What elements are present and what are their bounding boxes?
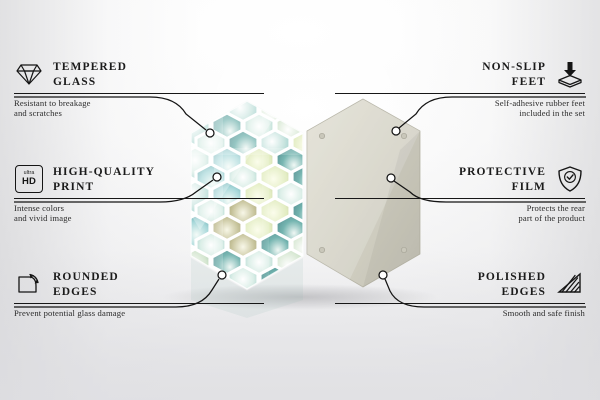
feature-title-line2: PRINT xyxy=(53,180,155,195)
feature-rounded-edges: ROUNDED EDGES Prevent potential glass da… xyxy=(14,268,264,318)
press-down-pad-icon xyxy=(555,59,585,89)
feature-title-line1: TEMPERED xyxy=(53,60,127,75)
hatched-triangle-icon xyxy=(555,269,585,299)
feature-description: Intense colors and vivid image xyxy=(14,203,264,224)
feature-title: ROUNDED EDGES xyxy=(53,268,119,299)
feature-desc-line1: Self-adhesive rubber feet xyxy=(335,98,585,108)
feature-title-line1: NON-SLIP xyxy=(482,60,546,75)
diamond-icon xyxy=(14,59,44,89)
feature-desc-line1: Resistant to breakage xyxy=(14,98,264,108)
feature-title: TEMPERED GLASS xyxy=(53,58,127,89)
feature-divider xyxy=(335,198,585,199)
feature-title-line1: ROUNDED xyxy=(53,270,119,285)
feature-description: Prevent potential glass damage xyxy=(14,308,264,318)
feature-tempered-glass: TEMPERED GLASS Resistant to breakage and… xyxy=(14,58,264,119)
feature-high-quality-print: ultra HD HIGH-QUALITY PRINT Intense colo… xyxy=(14,163,264,224)
feature-desc-line2: and vivid image xyxy=(14,213,264,223)
ultra-hd-badge-icon: ultra HD xyxy=(14,164,44,194)
feature-divider xyxy=(335,303,585,304)
feature-desc-line2: and scratches xyxy=(14,108,264,118)
feature-desc-line2: part of the product xyxy=(335,213,585,223)
feature-divider xyxy=(335,93,585,94)
feature-polished-edges: POLISHED EDGES Smooth and safe finish xyxy=(335,268,585,318)
feature-description: Self-adhesive rubber feet included in th… xyxy=(335,98,585,119)
feature-title: NON-SLIP FEET xyxy=(482,58,546,89)
feature-divider xyxy=(14,303,264,304)
feature-desc-line1: Smooth and safe finish xyxy=(335,308,585,318)
shield-check-icon xyxy=(555,164,585,194)
feature-title-line1: PROTECTIVE xyxy=(459,165,546,180)
feature-title-line1: POLISHED xyxy=(478,270,546,285)
feature-title-line1: HIGH-QUALITY xyxy=(53,165,155,180)
product-infographic: TEMPERED GLASS Resistant to breakage and… xyxy=(0,0,600,400)
feature-desc-line1: Protects the rear xyxy=(335,203,585,213)
feature-title-line2: EDGES xyxy=(53,285,119,300)
feature-title-line2: EDGES xyxy=(478,285,546,300)
feature-title-line2: GLASS xyxy=(53,75,127,90)
feature-title: PROTECTIVE FILM xyxy=(459,163,546,194)
feature-divider xyxy=(14,198,264,199)
feature-non-slip-feet: NON-SLIP FEET Self-adhesive rubber feet … xyxy=(335,58,585,119)
feature-description: Resistant to breakage and scratches xyxy=(14,98,264,119)
ultra-hd-bottom-text: HD xyxy=(22,177,36,187)
feature-title: HIGH-QUALITY PRINT xyxy=(53,163,155,194)
feature-desc-line1: Prevent potential glass damage xyxy=(14,308,264,318)
feature-divider xyxy=(14,93,264,94)
feature-desc-line2: included in the set xyxy=(335,108,585,118)
feature-title: POLISHED EDGES xyxy=(478,268,546,299)
feature-title-line2: FILM xyxy=(459,180,546,195)
feature-desc-line1: Intense colors xyxy=(14,203,264,213)
rounded-corner-icon xyxy=(14,269,44,299)
feature-protective-film: PROTECTIVE FILM Protects the rear part o… xyxy=(335,163,585,224)
feature-description: Protects the rear part of the product xyxy=(335,203,585,224)
feature-title-line2: FEET xyxy=(482,75,546,90)
feature-description: Smooth and safe finish xyxy=(335,308,585,318)
